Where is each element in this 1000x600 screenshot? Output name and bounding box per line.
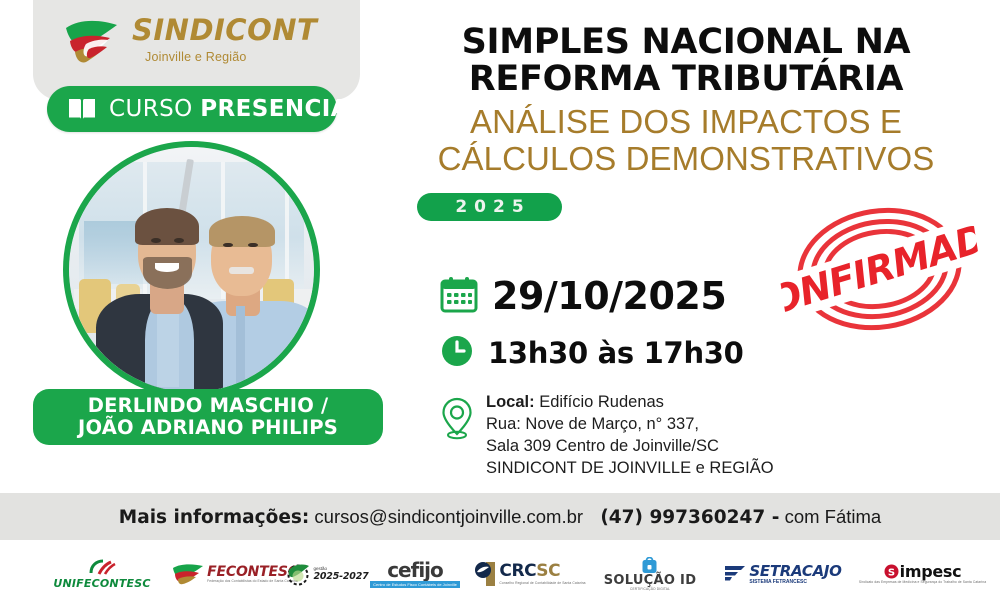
year-badge: 2025 xyxy=(417,193,562,221)
location-venue: Edifício Rudenas xyxy=(539,393,664,411)
simpesc-wordmark: impesc xyxy=(900,564,962,580)
event-title: SIMPLES NACIONAL NA REFORMA TRIBUTÁRIA A… xyxy=(386,24,986,178)
subtitle-line-1: ANÁLISE DOS IMPACTOS E xyxy=(386,103,986,141)
location-label: Local: xyxy=(486,393,535,411)
location-line-3: Sala 309 Centro de Joinville/SC xyxy=(486,437,719,455)
map-pin-icon xyxy=(440,396,474,445)
contact-phone[interactable]: (47) 997360247 - xyxy=(600,507,779,528)
contact-person: com Fátima xyxy=(785,506,882,527)
event-date-row: 29/10/2025 xyxy=(440,270,860,322)
sindicont-logo: SINDICONT Joinville e Região xyxy=(62,14,302,76)
cefijo-subtitle: Centro de Estudos Fisco Contábeis de Joi… xyxy=(370,581,460,588)
unifecontesc-mark xyxy=(87,559,117,576)
speakers-photo xyxy=(63,141,320,398)
sponsor-crcsc: CRC SC Conselho Regional de Contabilidad… xyxy=(470,548,590,600)
crcsc-mark xyxy=(474,561,496,587)
setracajo-wordmark: SETRACAJO xyxy=(749,564,841,579)
simpesc-s-icon: S xyxy=(884,564,899,579)
sponsor-solucao-id: SOLUÇÃO ID CERTIFICAÇÃO DIGITAL xyxy=(585,548,715,600)
fecontesc-flame-mark xyxy=(172,562,204,586)
sponsor-strip: UNIFECONTESC FECONTESC Federação dos Con… xyxy=(0,548,1000,600)
clock-icon xyxy=(440,334,474,373)
title-line-1: SIMPLES NACIONAL NA xyxy=(386,24,986,61)
crcsc-subtitle: Conselho Regional de Contabilidade de Sa… xyxy=(499,582,585,585)
setracajo-mark xyxy=(723,563,747,585)
speakers-name-banner: DERLINDO MASCHIO /JOÃO ADRIANO PHILIPS xyxy=(33,389,383,445)
calendar-icon xyxy=(440,275,478,318)
cefijo-wordmark: cefijo xyxy=(387,560,443,580)
curso-presencial-label: CURSO PRESENCIAL xyxy=(109,96,364,122)
sc-wordmark: SC xyxy=(536,563,560,580)
curso-word: CURSO xyxy=(109,96,200,122)
event-location-text: Local: Edifício Rudenas Rua: Nove de Mar… xyxy=(486,392,774,480)
event-date: 29/10/2025 xyxy=(492,274,726,318)
sindicont-wordmark: SINDICONT xyxy=(132,16,317,45)
gestao-gear-leaf-icon xyxy=(285,561,311,587)
speakers-names: DERLINDO MASCHIO /JOÃO ADRIANO PHILIPS xyxy=(78,395,338,439)
sponsor-cefijo: cefijo Centro de Estudos Fisco Contábeis… xyxy=(360,548,470,600)
presencial-word: PRESENCIAL xyxy=(200,96,364,122)
contact-email[interactable]: cursos@sindicontjoinville.com.br xyxy=(314,506,583,527)
svg-text:S: S xyxy=(888,567,895,578)
location-line-4: SINDICONT DE JOINVILLE e REGIÃO xyxy=(486,459,774,477)
subtitle-line-2: CÁLCULOS DEMONSTRATIVOS xyxy=(386,140,986,178)
speaker-line-1: DERLINDO MASCHIO / xyxy=(88,394,329,417)
event-flyer: SINDICONT Joinville e Região CURSO PRESE… xyxy=(0,0,1000,600)
event-time-row: 13h30 às 17h30 xyxy=(440,330,860,376)
sindicont-tagline: Joinville e Região xyxy=(145,50,247,64)
solucao-id-lock-icon xyxy=(641,557,658,574)
setracajo-subtitle: SISTEMA FETRANCESC xyxy=(749,580,807,585)
contact-text: Mais informações: cursos@sindicontjoinvi… xyxy=(119,506,881,528)
photo-inner xyxy=(69,147,314,392)
year-label: 2025 xyxy=(448,197,530,217)
event-location-row: Local: Edifício Rudenas Rua: Nove de Mar… xyxy=(440,392,860,480)
solucao-id-wordmark: SOLUÇÃO ID xyxy=(604,574,697,587)
crc-wordmark: CRC xyxy=(499,563,536,580)
simpesc-subtitle: Sindicato das Empresas de Medicina e Seg… xyxy=(859,581,986,584)
sindicont-flame-mark xyxy=(62,16,124,68)
event-time: 13h30 às 17h30 xyxy=(488,336,744,370)
solucao-id-subtitle: CERTIFICAÇÃO DIGITAL xyxy=(630,588,670,591)
contact-bar: Mais informações: cursos@sindicontjoinvi… xyxy=(0,493,1000,540)
location-line-2: Rua: Nove de Março, n° 337, xyxy=(486,415,699,433)
speaker-line-2: JOÃO ADRIANO PHILIPS xyxy=(78,416,338,439)
event-info: 29/10/2025 13h30 às 17h30 Local: xyxy=(440,270,860,480)
curso-presencial-badge: CURSO PRESENCIAL xyxy=(47,86,337,132)
title-line-2: REFORMA TRIBUTÁRIA xyxy=(386,61,986,98)
unifecontesc-wordmark: UNIFECONTESC xyxy=(53,578,150,589)
contact-label: Mais informações: xyxy=(119,507,309,528)
sponsor-simpesc: S impesc Sindicato das Empresas de Medic… xyxy=(855,548,990,600)
open-book-icon xyxy=(67,96,97,122)
sponsor-setracajo: SETRACAJO SISTEMA FETRANCESC xyxy=(715,548,850,600)
sponsor-unifecontesc: UNIFECONTESC xyxy=(22,548,182,600)
